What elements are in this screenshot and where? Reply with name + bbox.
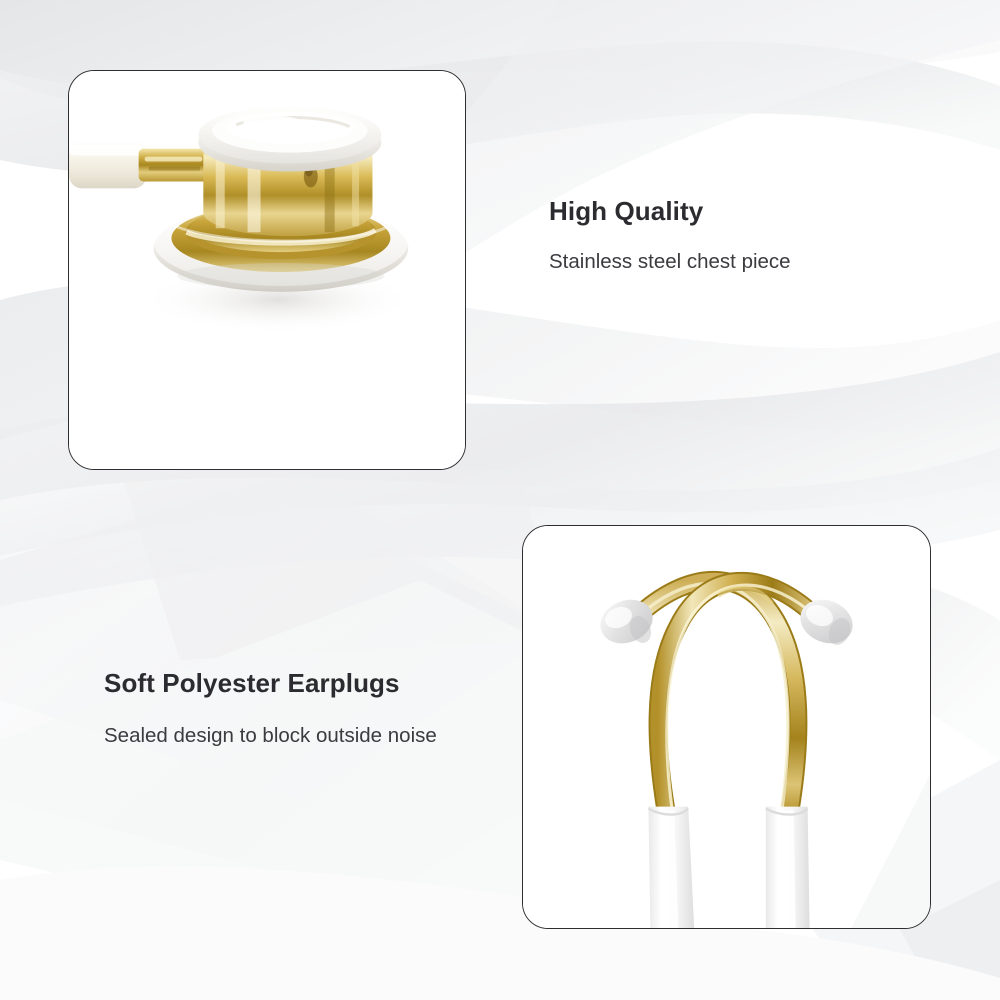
feature-body-earplugs: Sealed design to block outside noise (104, 721, 504, 750)
gold-stethoscope-chestpiece-photo (69, 71, 465, 469)
white-tubing-left (648, 807, 694, 928)
feature-image-card-earplugs (522, 525, 931, 929)
feature-heading-high-quality: High Quality (549, 196, 849, 227)
feature-text-earplugs: Soft Polyester Earplugs Sealed design to… (104, 668, 504, 750)
feature-image-card-high-quality (68, 70, 466, 470)
gold-binaural-tubes-with-earplugs-photo (523, 526, 930, 928)
feature-body-high-quality: Stainless steel chest piece (549, 247, 849, 276)
feature-heading-earplugs: Soft Polyester Earplugs (104, 668, 504, 699)
white-tubing-right (766, 807, 810, 928)
feature-text-high-quality: High Quality Stainless steel chest piece (549, 196, 849, 276)
